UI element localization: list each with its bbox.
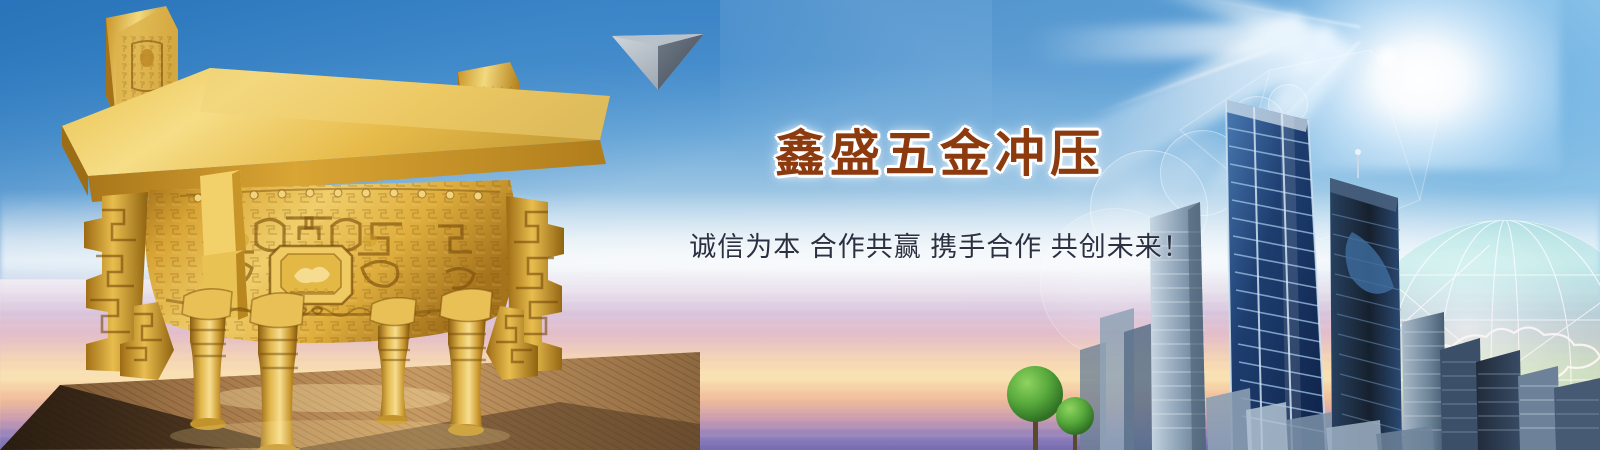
golden-ding-vessel-icon <box>40 0 660 450</box>
banner-headline: 鑫盛五金冲压 <box>620 128 1260 181</box>
hero-banner: 鑫盛五金冲压 诚信为本 合作共赢 携手合作 共创未来！ <box>0 0 1600 450</box>
ding-leg <box>370 298 416 425</box>
ding-leg <box>182 289 232 430</box>
inverted-triangle-icon <box>610 28 706 92</box>
banner-subline: 诚信为本 合作共赢 携手合作 共创未来！ <box>620 225 1260 264</box>
ding-leg <box>440 289 492 436</box>
tree-icon <box>985 350 1105 450</box>
banner-text-block: 鑫盛五金冲压 诚信为本 合作共赢 携手合作 共创未来！ <box>620 128 1260 264</box>
